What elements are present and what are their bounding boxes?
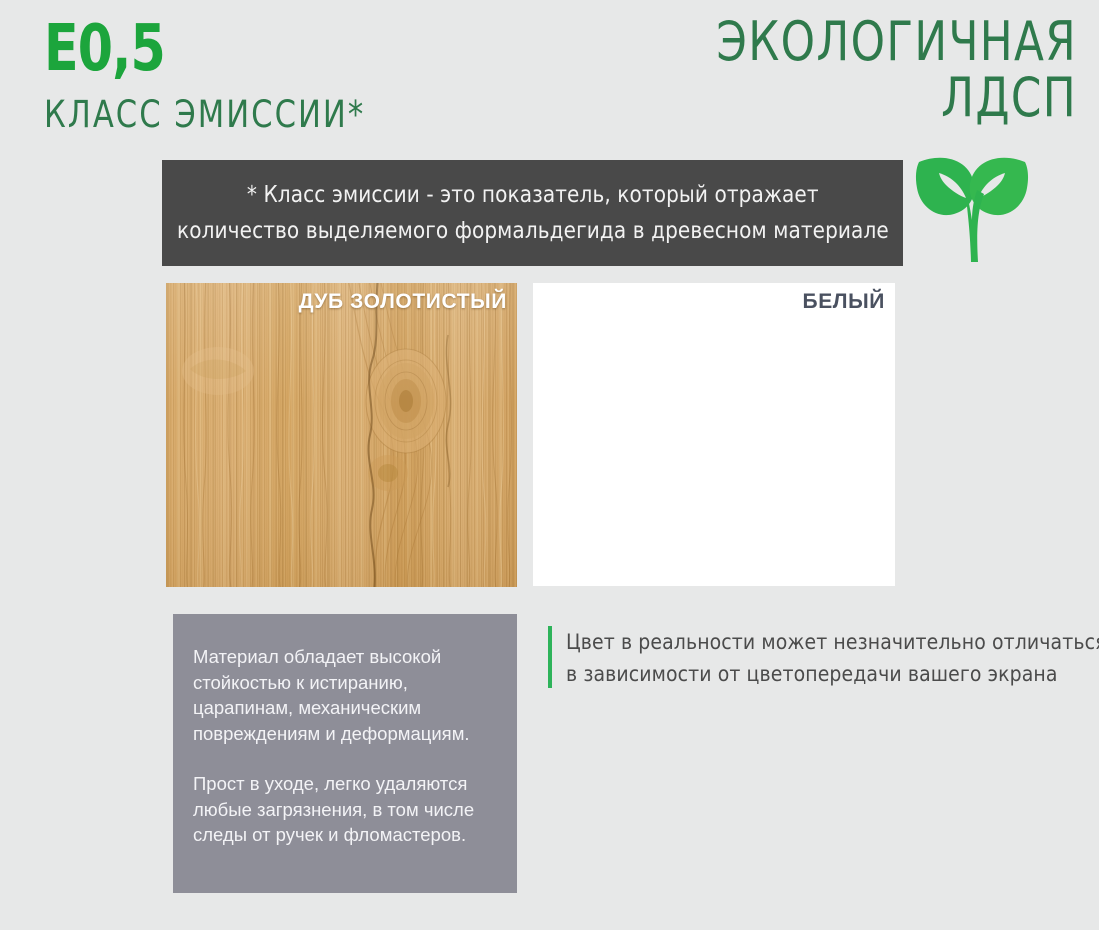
accent-bar xyxy=(548,626,552,688)
color-disclaimer: Цвет в реальности может незначительно от… xyxy=(548,626,1068,690)
color-swatch-white[interactable]: БЕЛЫЙ xyxy=(533,283,895,586)
emission-class-subtitle: КЛАСС ЭМИССИИ* xyxy=(44,96,467,134)
material-properties-paragraph-1: Материал обладает высокой стойкостью к и… xyxy=(193,644,495,746)
emission-class-block: E0,5 КЛАСС ЭМИССИИ* xyxy=(44,18,504,134)
color-disclaimer-line-2: в зависимости от цветопередачи вашего эк… xyxy=(566,658,1099,690)
eco-headline-line-2: ЛДСП xyxy=(699,70,1077,126)
infographic-page: E0,5 КЛАСС ЭМИССИИ* ЭКОЛОГИЧНАЯ ЛДСП * К… xyxy=(0,0,1099,930)
footnote-banner: * Класс эмиссии - это показатель, которы… xyxy=(162,160,903,266)
wood-grain-texture xyxy=(166,283,517,587)
footnote-banner-line-2: количество выделяемого формальдегида в д… xyxy=(177,213,889,249)
color-disclaimer-line-1: Цвет в реальности может незначительно от… xyxy=(566,626,1099,658)
eco-headline-line-1: ЭКОЛОГИЧНАЯ xyxy=(699,14,1077,70)
color-swatch-oak-golden[interactable]: ДУБ ЗОЛОТИСТЫЙ xyxy=(166,283,517,587)
color-disclaimer-text: Цвет в реальности может незначительно от… xyxy=(566,626,1099,690)
sprout-icon xyxy=(908,144,1036,266)
paragraph-spacer xyxy=(193,746,495,771)
emission-class-code: E0,5 xyxy=(44,18,449,80)
footnote-banner-line-1: * Класс эмиссии - это показатель, которы… xyxy=(247,177,819,213)
material-properties-panel: Материал обладает высокой стойкостью к и… xyxy=(173,614,517,893)
material-properties-paragraph-2: Прост в уходе, легко удаляются любые заг… xyxy=(193,771,495,848)
swatch-label-oak-golden: ДУБ ЗОЛОТИСТЫЙ xyxy=(299,290,507,314)
eco-headline-block: ЭКОЛОГИЧНАЯ ЛДСП xyxy=(657,14,1077,126)
swatch-label-white: БЕЛЫЙ xyxy=(803,290,886,314)
